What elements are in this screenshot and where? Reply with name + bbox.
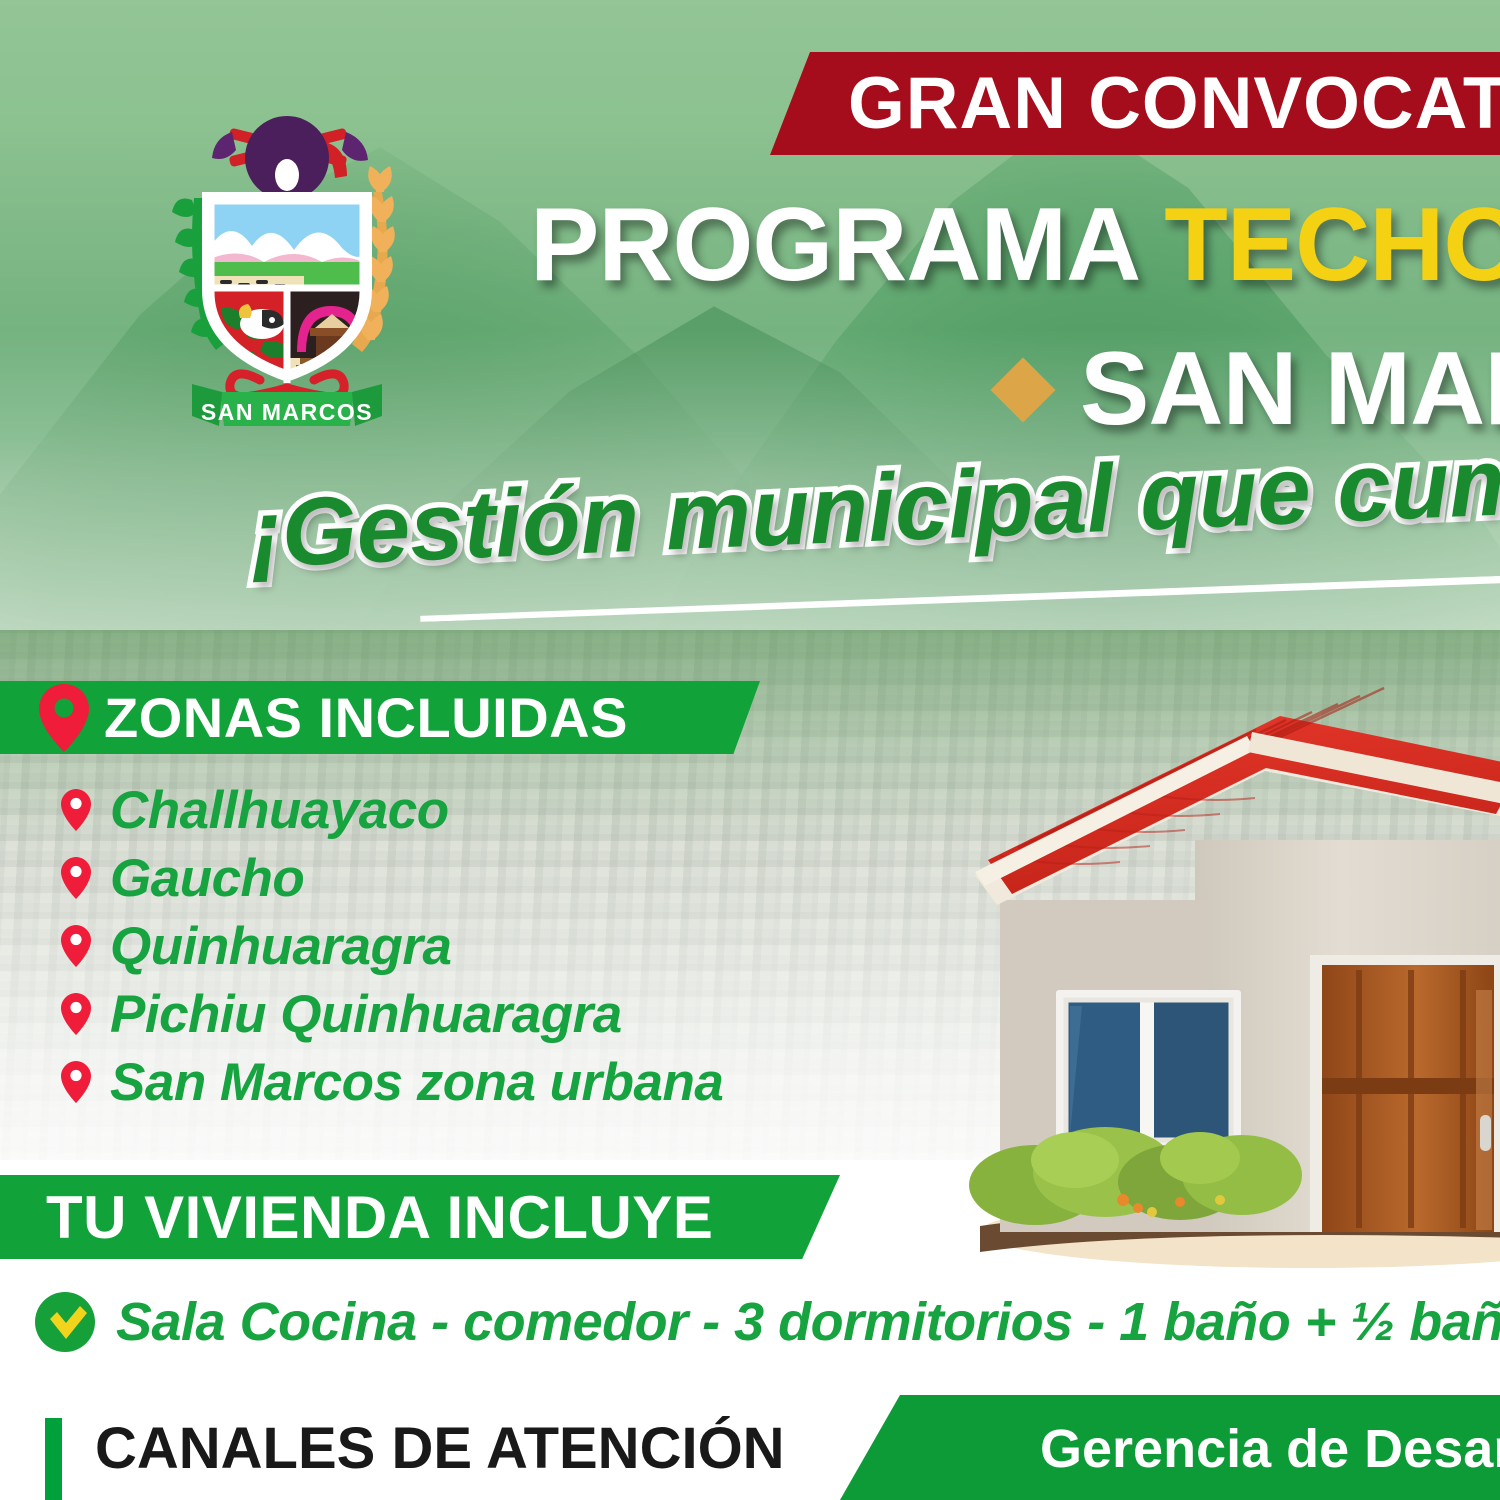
gerencia-label: Gerencia de Desarrollo Urbano: [1040, 1418, 1500, 1480]
coat-of-arms-icon: SAN MARCOS: [120, 80, 450, 430]
zone-name: Challhuayaco: [110, 780, 449, 841]
zone-name: Gaucho: [110, 848, 304, 909]
vivienda-feature-row: Sala Cocina - comedor - 3 dormitorios - …: [34, 1291, 1500, 1353]
poster-root: SAN MARCOS GRAN CONVOCATORIA PROGRAMA TE…: [0, 0, 1500, 1500]
zones-list: Challhuayaco Gaucho Quinhuaragra Pichiu …: [60, 776, 960, 1116]
zonas-incluidas-banner: ZONAS INCLUIDAS: [0, 681, 760, 754]
zone-name: Quinhuaragra: [110, 916, 452, 977]
program-title-white: PROGRAMA: [530, 187, 1164, 303]
list-item: San Marcos zona urbana: [60, 1048, 960, 1116]
crest-ribbon-label: SAN MARCOS: [201, 399, 373, 425]
house-illustration: [880, 660, 1500, 1280]
list-item: Challhuayaco: [60, 776, 960, 844]
tu-vivienda-incluye-label: TU VIVIENDA INCLUYE: [46, 1183, 713, 1252]
map-pin-icon: [60, 788, 92, 832]
zone-name: San Marcos zona urbana: [110, 1052, 723, 1113]
list-item: Pichiu Quinhuaragra: [60, 980, 960, 1048]
program-title-line1: PROGRAMA TECHO PROPIO: [530, 186, 1500, 305]
map-pin-icon: [60, 924, 92, 968]
tu-vivienda-incluye-banner: TU VIVIENDA INCLUYE: [0, 1175, 840, 1259]
list-item: Gaucho: [60, 844, 960, 912]
gran-convocatoria-text: GRAN CONVOCATORIA: [770, 62, 1500, 145]
program-title-yellow: TECHO PROPIO: [1164, 187, 1500, 303]
canales-de-atencion-label: CANALES DE ATENCIÓN: [95, 1415, 785, 1482]
vivienda-feature-text: Sala Cocina - comedor - 3 dormitorios - …: [116, 1291, 1500, 1353]
map-pin-icon: [60, 992, 92, 1036]
diamond-bullet-icon: [990, 357, 1055, 422]
footer-accent-bar: [45, 1418, 62, 1500]
check-badge-icon: [34, 1291, 96, 1353]
map-pin-icon: [38, 683, 90, 753]
map-pin-icon: [60, 856, 92, 900]
zone-name: Pichiu Quinhuaragra: [110, 984, 622, 1045]
map-pin-icon: [60, 1060, 92, 1104]
list-item: Quinhuaragra: [60, 912, 960, 980]
gran-convocatoria-ribbon: GRAN CONVOCATORIA: [770, 52, 1500, 155]
zonas-incluidas-label: ZONAS INCLUIDAS: [104, 685, 628, 750]
